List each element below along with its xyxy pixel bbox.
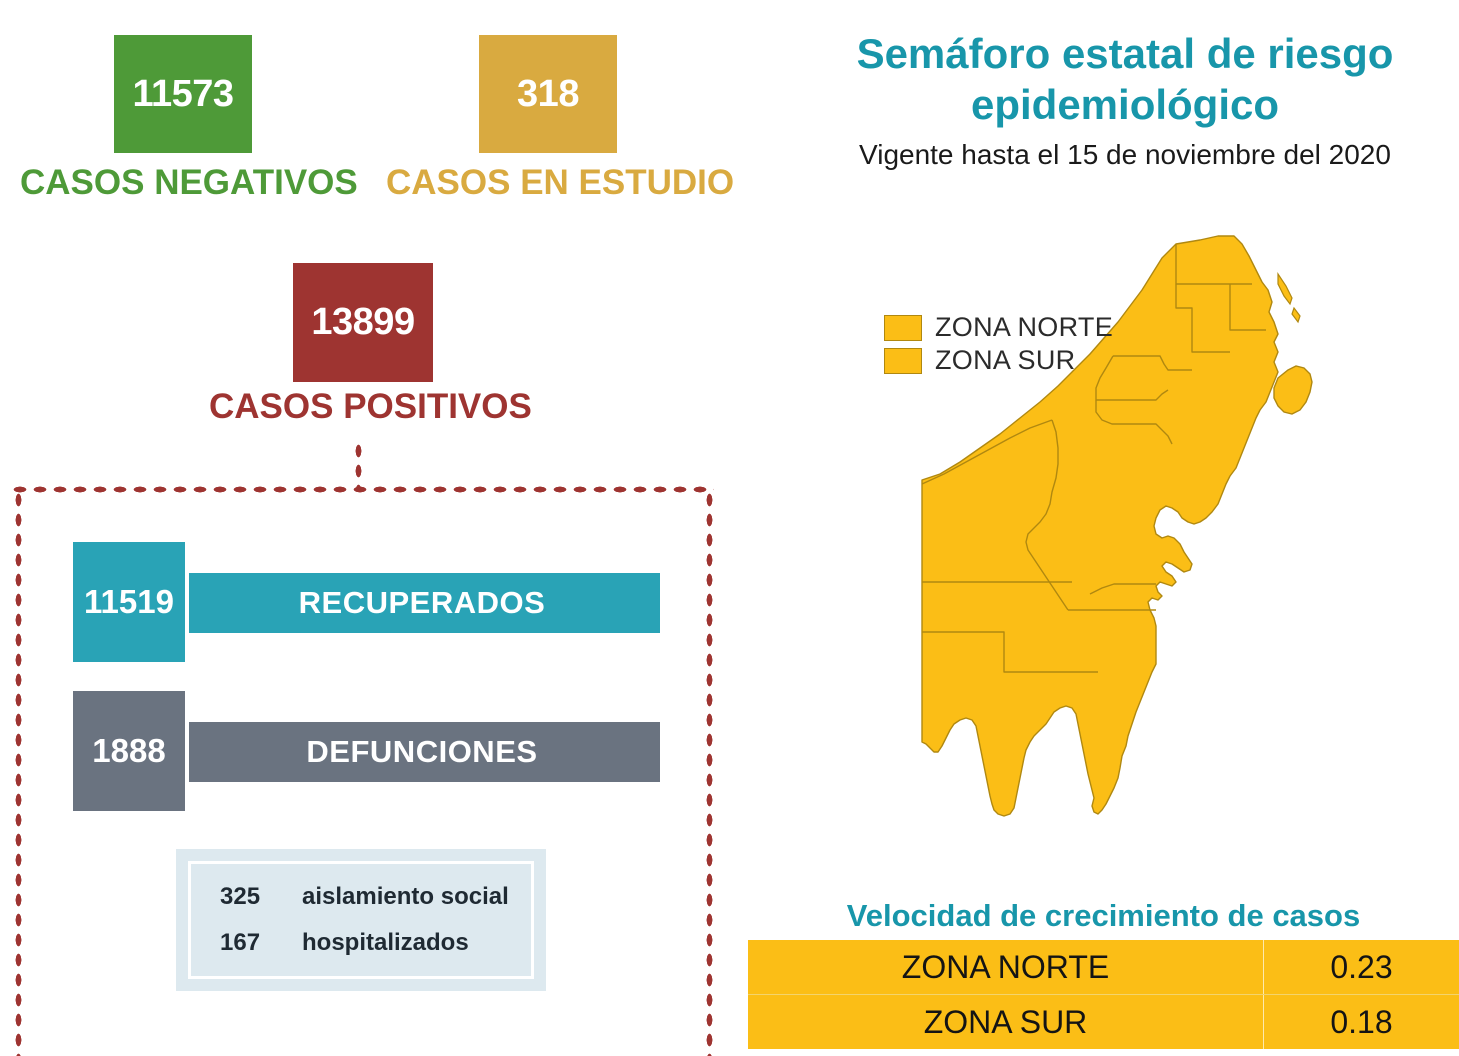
defunciones-bar: DEFUNCIONES xyxy=(184,722,660,782)
velocity-zone-sur-value: 0.18 xyxy=(1264,995,1459,1050)
casos-negativos-value: 11573 xyxy=(132,73,233,116)
velocity-table: ZONA NORTE 0.23 ZONA SUR 0.18 xyxy=(748,940,1459,1049)
page-title-line-2: epidemiológico xyxy=(800,79,1450,130)
map-island-sliver xyxy=(1278,274,1292,304)
breakdown-row-defunciones: DEFUNCIONES 1888 xyxy=(69,687,669,815)
defunciones-label: DEFUNCIONES xyxy=(306,734,537,770)
legend-label-zona-norte: ZONA NORTE xyxy=(935,312,1113,343)
detail-box-active-cases: 325 aislamiento social 167 hospitalizado… xyxy=(176,849,546,991)
defunciones-value: 1888 xyxy=(92,732,165,770)
map-island-sliver-2 xyxy=(1292,308,1300,322)
detail-row-hospitalizados: 167 hospitalizados xyxy=(182,920,540,966)
hospitalizados-value: 167 xyxy=(220,929,302,957)
recuperados-chip: 11519 xyxy=(69,538,189,666)
stat-card-casos-en-estudio: 318 xyxy=(475,31,621,157)
legend-item-zona-norte: ZONA NORTE xyxy=(884,312,1113,343)
detail-row-aislamiento-social: 325 aislamiento social xyxy=(182,874,540,920)
stat-card-casos-positivos: 13899 xyxy=(289,259,437,386)
page-title: Semáforo estatal de riesgo epidemiológic… xyxy=(800,28,1450,130)
map-island-cozumel xyxy=(1274,366,1312,414)
dotted-connector-line xyxy=(354,441,363,489)
stat-card-casos-negativos: 11573 xyxy=(110,31,256,157)
legend-swatch-icon xyxy=(884,315,922,341)
breakdown-row-recuperados: RECUPERADOS 11519 xyxy=(69,538,669,666)
table-row: ZONA NORTE 0.23 xyxy=(748,940,1459,995)
table-row: ZONA SUR 0.18 xyxy=(748,995,1459,1050)
infographic-page: 11573 CASOS NEGATIVOS 318 CASOS EN ESTUD… xyxy=(0,0,1459,1056)
page-title-line-1: Semáforo estatal de riesgo xyxy=(800,28,1450,79)
velocity-zone-sur-label: ZONA SUR xyxy=(748,995,1264,1050)
dotted-frame-left xyxy=(14,490,23,1056)
velocity-zone-norte-value: 0.23 xyxy=(1264,940,1459,995)
velocity-table-title: Velocidad de crecimiento de casos xyxy=(748,898,1459,934)
casos-positivos-label: CASOS POSITIVOS xyxy=(209,387,532,427)
casos-en-estudio-label: CASOS EN ESTUDIO xyxy=(386,163,734,203)
recuperados-bar: RECUPERADOS xyxy=(184,573,660,633)
recuperados-value: 11519 xyxy=(84,583,174,621)
map-legend: ZONA NORTE ZONA SUR xyxy=(884,312,1113,378)
casos-positivos-value: 13899 xyxy=(311,301,414,344)
dotted-frame-right xyxy=(705,490,714,1056)
legend-label-zona-sur: ZONA SUR xyxy=(935,345,1075,376)
defunciones-chip: 1888 xyxy=(69,687,189,815)
recuperados-label: RECUPERADOS xyxy=(299,585,546,621)
legend-item-zona-sur: ZONA SUR xyxy=(884,345,1113,376)
dotted-frame-top xyxy=(10,485,714,494)
hospitalizados-label: hospitalizados xyxy=(302,929,469,957)
aislamiento-social-value: 325 xyxy=(220,883,302,911)
map-svg xyxy=(900,212,1330,832)
legend-swatch-icon xyxy=(884,348,922,374)
casos-negativos-label: CASOS NEGATIVOS xyxy=(20,163,358,203)
casos-en-estudio-value: 318 xyxy=(517,73,579,116)
quintana-roo-map xyxy=(900,212,1330,832)
velocity-zone-norte-label: ZONA NORTE xyxy=(748,940,1264,995)
aislamiento-social-label: aislamiento social xyxy=(302,883,509,911)
page-subtitle: Vigente hasta el 15 de noviembre del 202… xyxy=(800,139,1450,171)
